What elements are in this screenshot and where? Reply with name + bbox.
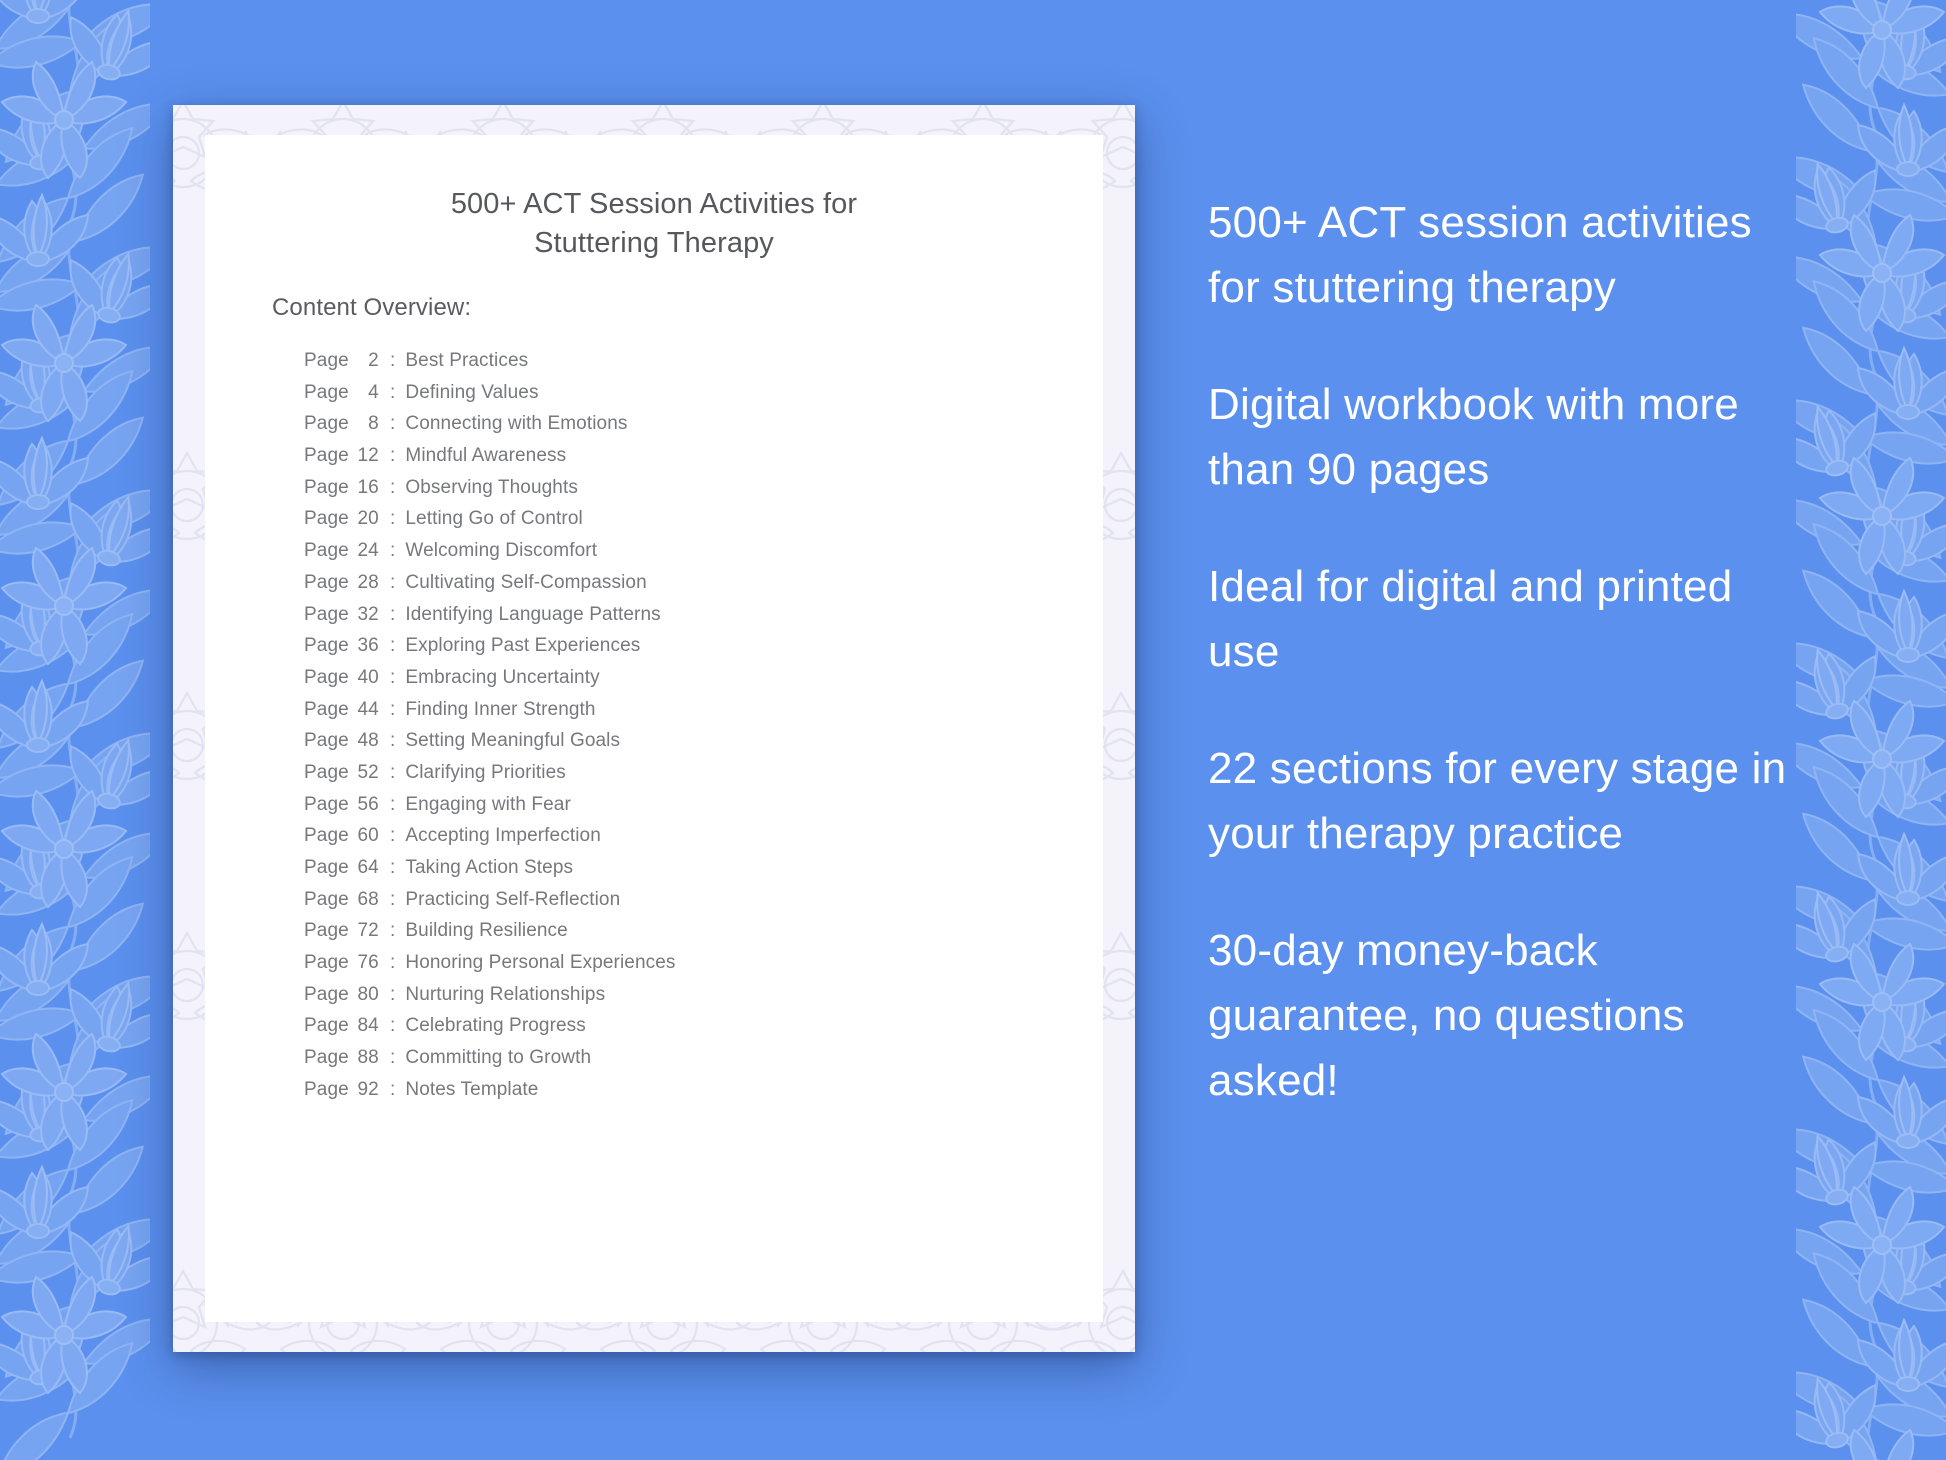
toc-row: Page2:Best Practices [304,350,1063,382]
toc-separator: : [390,604,395,626]
toc-page-label: Page8 [304,413,390,435]
toc-entry-title: Best Practices [405,350,528,372]
poster-canvas: 500+ ACT Session Activities for Stutteri… [0,0,1946,1460]
toc-page-label: Page4 [304,382,390,404]
workbook-page-preview: 500+ ACT Session Activities for Stutteri… [173,105,1135,1352]
toc-entry-title: Observing Thoughts [405,477,578,499]
toc-page-number: 4 [349,382,379,404]
toc-page-word: Page [304,920,349,941]
toc-page-number: 68 [349,889,379,911]
toc-entry-title: Notes Template [405,1079,538,1101]
toc-row: Page72:Building Resilience [304,920,1063,952]
toc-page-number: 92 [349,1079,379,1101]
toc-separator: : [390,350,395,372]
toc-page-label: Page52 [304,762,390,784]
toc-entry-title: Committing to Growth [405,1047,591,1069]
toc-page-label: Page72 [304,920,390,942]
content-overview-label: Content Overview: [272,294,471,322]
toc-entry-title: Accepting Imperfection [405,825,600,847]
toc-separator: : [390,1015,395,1037]
page-title-line-1: 500+ ACT Session Activities for [275,185,1033,224]
toc-page-word: Page [304,382,349,403]
toc-entry-title: Embracing Uncertainty [405,667,599,689]
toc-page-word: Page [304,857,349,878]
marketing-copy-list: 500+ ACT session activities for stutteri… [1208,190,1808,1113]
toc-page-word: Page [304,572,349,593]
page-title: 500+ ACT Session Activities for Stutteri… [205,185,1103,263]
toc-page-word: Page [304,1079,349,1100]
toc-entry-title: Connecting with Emotions [405,413,627,435]
toc-page-label: Page36 [304,635,390,657]
toc-separator: : [390,1079,395,1101]
toc-row: Page40:Embracing Uncertainty [304,667,1063,699]
toc-page-number: 80 [349,984,379,1006]
toc-separator: : [390,730,395,752]
toc-separator: : [390,920,395,942]
toc-page-word: Page [304,889,349,910]
toc-page-word: Page [304,1015,349,1036]
toc-row: Page48:Setting Meaningful Goals [304,730,1063,762]
toc-page-word: Page [304,1047,349,1068]
toc-page-number: 84 [349,1015,379,1037]
toc-separator: : [390,667,395,689]
toc-page-word: Page [304,730,349,751]
toc-page-word: Page [304,762,349,783]
toc-page-label: Page60 [304,825,390,847]
toc-page-label: Page64 [304,857,390,879]
toc-page-number: 88 [349,1047,379,1069]
toc-separator: : [390,382,395,404]
marketing-bullet: 30-day money-back guarantee, no question… [1208,918,1808,1113]
toc-entry-title: Finding Inner Strength [405,699,595,721]
toc-separator: : [390,794,395,816]
toc-row: Page84:Celebrating Progress [304,1015,1063,1047]
toc-separator: : [390,572,395,594]
toc-entry-title: Practicing Self-Reflection [405,889,620,911]
page-content-area: 500+ ACT Session Activities for Stutteri… [205,135,1103,1322]
toc-separator: : [390,413,395,435]
toc-page-label: Page44 [304,699,390,721]
toc-page-word: Page [304,984,349,1005]
toc-separator: : [390,857,395,879]
toc-page-number: 64 [349,857,379,879]
toc-page-number: 76 [349,952,379,974]
toc-page-word: Page [304,699,349,720]
toc-entry-title: Letting Go of Control [405,508,582,530]
toc-entry-title: Engaging with Fear [405,794,571,816]
toc-entry-title: Identifying Language Patterns [405,604,660,626]
toc-page-word: Page [304,825,349,846]
toc-entry-title: Welcoming Discomfort [405,540,597,562]
floral-vine-border-icon [1796,0,1946,1460]
toc-row: Page52:Clarifying Priorities [304,762,1063,794]
toc-row: Page16:Observing Thoughts [304,477,1063,509]
toc-page-number: 28 [349,572,379,594]
toc-page-label: Page80 [304,984,390,1006]
toc-separator: : [390,889,395,911]
toc-page-word: Page [304,445,349,466]
toc-page-label: Page40 [304,667,390,689]
toc-page-label: Page88 [304,1047,390,1069]
toc-page-word: Page [304,477,349,498]
toc-page-word: Page [304,667,349,688]
toc-page-number: 56 [349,794,379,816]
toc-page-label: Page76 [304,952,390,974]
toc-page-label: Page32 [304,604,390,626]
toc-row: Page80:Nurturing Relationships [304,984,1063,1016]
toc-row: Page92:Notes Template [304,1079,1063,1111]
toc-row: Page28:Cultivating Self-Compassion [304,572,1063,604]
toc-page-word: Page [304,350,349,371]
toc-page-number: 52 [349,762,379,784]
toc-page-number: 32 [349,604,379,626]
toc-page-number: 16 [349,477,379,499]
toc-page-number: 72 [349,920,379,942]
floral-vine-border-icon [0,0,150,1460]
toc-page-label: Page68 [304,889,390,911]
toc-entry-title: Setting Meaningful Goals [405,730,620,752]
toc-page-number: 24 [349,540,379,562]
toc-row: Page24:Welcoming Discomfort [304,540,1063,572]
toc-row: Page12:Mindful Awareness [304,445,1063,477]
toc-row: Page20:Letting Go of Control [304,508,1063,540]
toc-row: Page44:Finding Inner Strength [304,699,1063,731]
toc-separator: : [390,984,395,1006]
toc-page-label: Page12 [304,445,390,467]
toc-row: Page68:Practicing Self-Reflection [304,889,1063,921]
page-title-line-2: Stuttering Therapy [275,224,1033,263]
toc-separator: : [390,635,395,657]
toc-page-label: Page20 [304,508,390,530]
marketing-bullet: 22 sections for every stage in your ther… [1208,736,1808,866]
toc-row: Page32:Identifying Language Patterns [304,604,1063,636]
table-of-contents: Page2:Best PracticesPage4:Defining Value… [304,350,1063,1111]
toc-row: Page88:Committing to Growth [304,1047,1063,1079]
toc-row: Page36:Exploring Past Experiences [304,635,1063,667]
toc-separator: : [390,952,395,974]
toc-entry-title: Nurturing Relationships [405,984,605,1006]
toc-separator: : [390,699,395,721]
toc-entry-title: Clarifying Priorities [405,762,565,784]
toc-entry-title: Mindful Awareness [405,445,566,467]
toc-page-number: 12 [349,445,379,467]
toc-entry-title: Taking Action Steps [405,857,573,879]
marketing-bullet: Digital workbook with more than 90 pages [1208,372,1808,502]
toc-page-word: Page [304,540,349,561]
toc-row: Page8:Connecting with Emotions [304,413,1063,445]
toc-separator: : [390,477,395,499]
toc-page-word: Page [304,413,349,434]
toc-page-number: 44 [349,699,379,721]
toc-page-word: Page [304,794,349,815]
toc-entry-title: Cultivating Self-Compassion [405,572,646,594]
toc-page-number: 20 [349,508,379,530]
toc-entry-title: Exploring Past Experiences [405,635,640,657]
toc-page-word: Page [304,508,349,529]
toc-row: Page64:Taking Action Steps [304,857,1063,889]
toc-page-label: Page48 [304,730,390,752]
toc-page-word: Page [304,635,349,656]
toc-page-number: 8 [349,413,379,435]
toc-separator: : [390,540,395,562]
toc-page-number: 2 [349,350,379,372]
toc-entry-title: Honoring Personal Experiences [405,952,675,974]
toc-separator: : [390,1047,395,1069]
toc-page-label: Page84 [304,1015,390,1037]
toc-page-word: Page [304,952,349,973]
toc-page-label: Page28 [304,572,390,594]
toc-separator: : [390,508,395,530]
marketing-bullet: Ideal for digital and printed use [1208,554,1808,684]
toc-row: Page56:Engaging with Fear [304,794,1063,826]
toc-separator: : [390,445,395,467]
toc-page-word: Page [304,604,349,625]
toc-row: Page60:Accepting Imperfection [304,825,1063,857]
toc-page-number: 36 [349,635,379,657]
toc-row: Page4:Defining Values [304,382,1063,414]
toc-separator: : [390,825,395,847]
toc-entry-title: Defining Values [405,382,538,404]
toc-page-number: 48 [349,730,379,752]
toc-page-label: Page2 [304,350,390,372]
toc-page-number: 40 [349,667,379,689]
toc-page-label: Page56 [304,794,390,816]
marketing-bullet: 500+ ACT session activities for stutteri… [1208,190,1808,320]
toc-page-label: Page92 [304,1079,390,1101]
toc-entry-title: Celebrating Progress [405,1015,585,1037]
toc-page-number: 60 [349,825,379,847]
toc-page-label: Page24 [304,540,390,562]
toc-page-label: Page16 [304,477,390,499]
toc-separator: : [390,762,395,784]
toc-row: Page76:Honoring Personal Experiences [304,952,1063,984]
toc-entry-title: Building Resilience [405,920,567,942]
